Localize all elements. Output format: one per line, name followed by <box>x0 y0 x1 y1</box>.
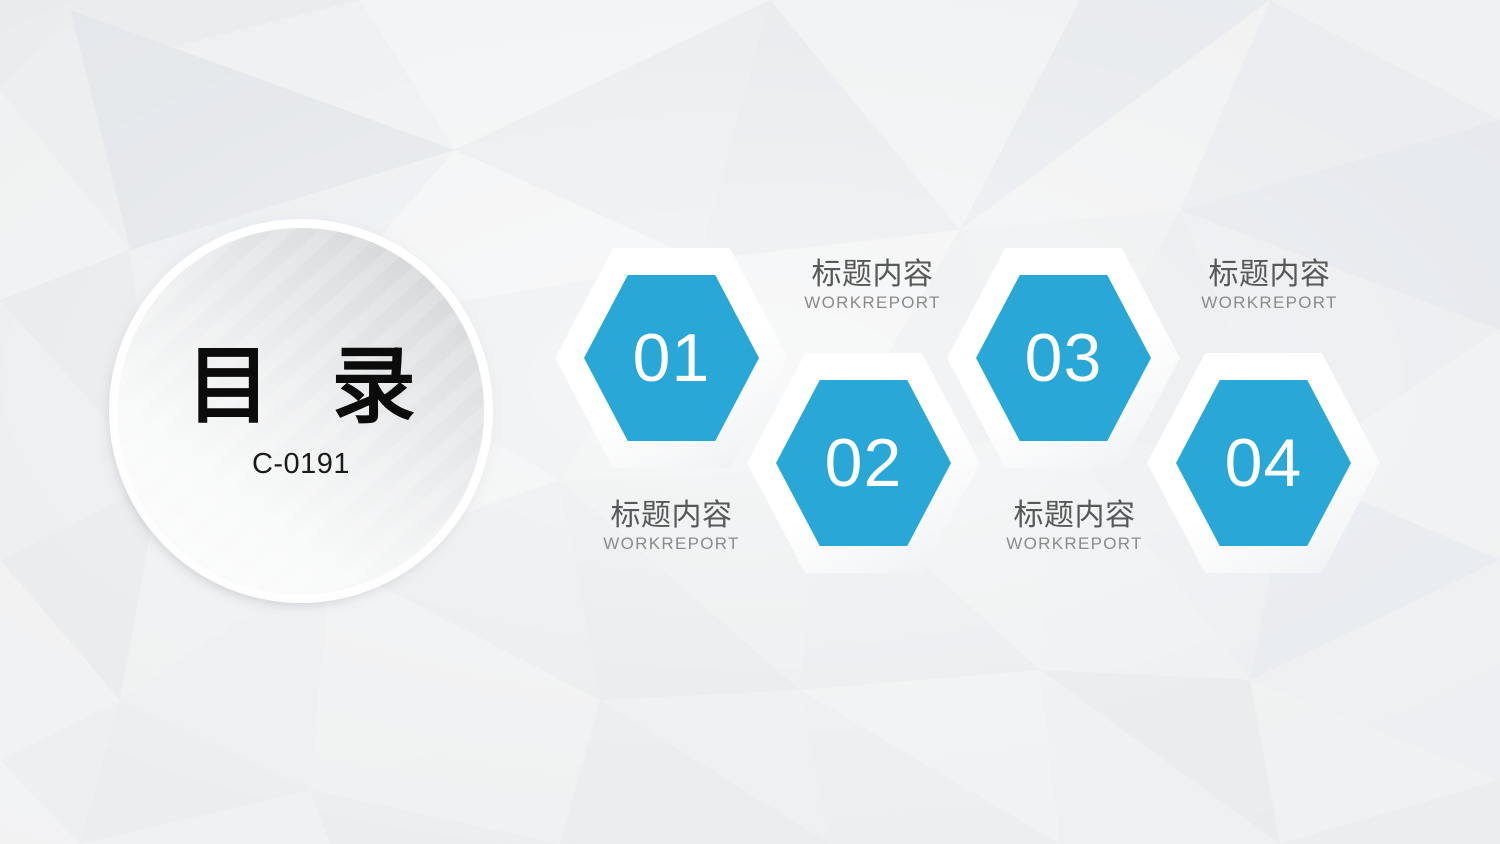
section-item-03[interactable]: 03 <box>947 248 1180 468</box>
section-item-04[interactable]: 04 <box>1147 353 1380 573</box>
section-item-02[interactable]: 02 <box>747 353 980 573</box>
page-subtitle: C-0191 <box>252 450 350 479</box>
section-number-04: 04 <box>1225 429 1303 497</box>
section-label-04: 标题内容 WORKREPORT <box>1157 257 1382 315</box>
presentation-slide: 目 录 C-0191 01 标题内容 WORKREPORT 02 标题内容 WO… <box>0 0 1500 844</box>
section-title-en-04: WORKREPORT <box>1157 292 1382 315</box>
section-number-01: 01 <box>633 324 711 392</box>
section-number-03: 03 <box>1025 324 1103 392</box>
section-title-cn-04: 标题内容 <box>1157 257 1382 292</box>
section-number-02: 02 <box>825 429 903 497</box>
page-title: 目 录 <box>170 344 431 428</box>
